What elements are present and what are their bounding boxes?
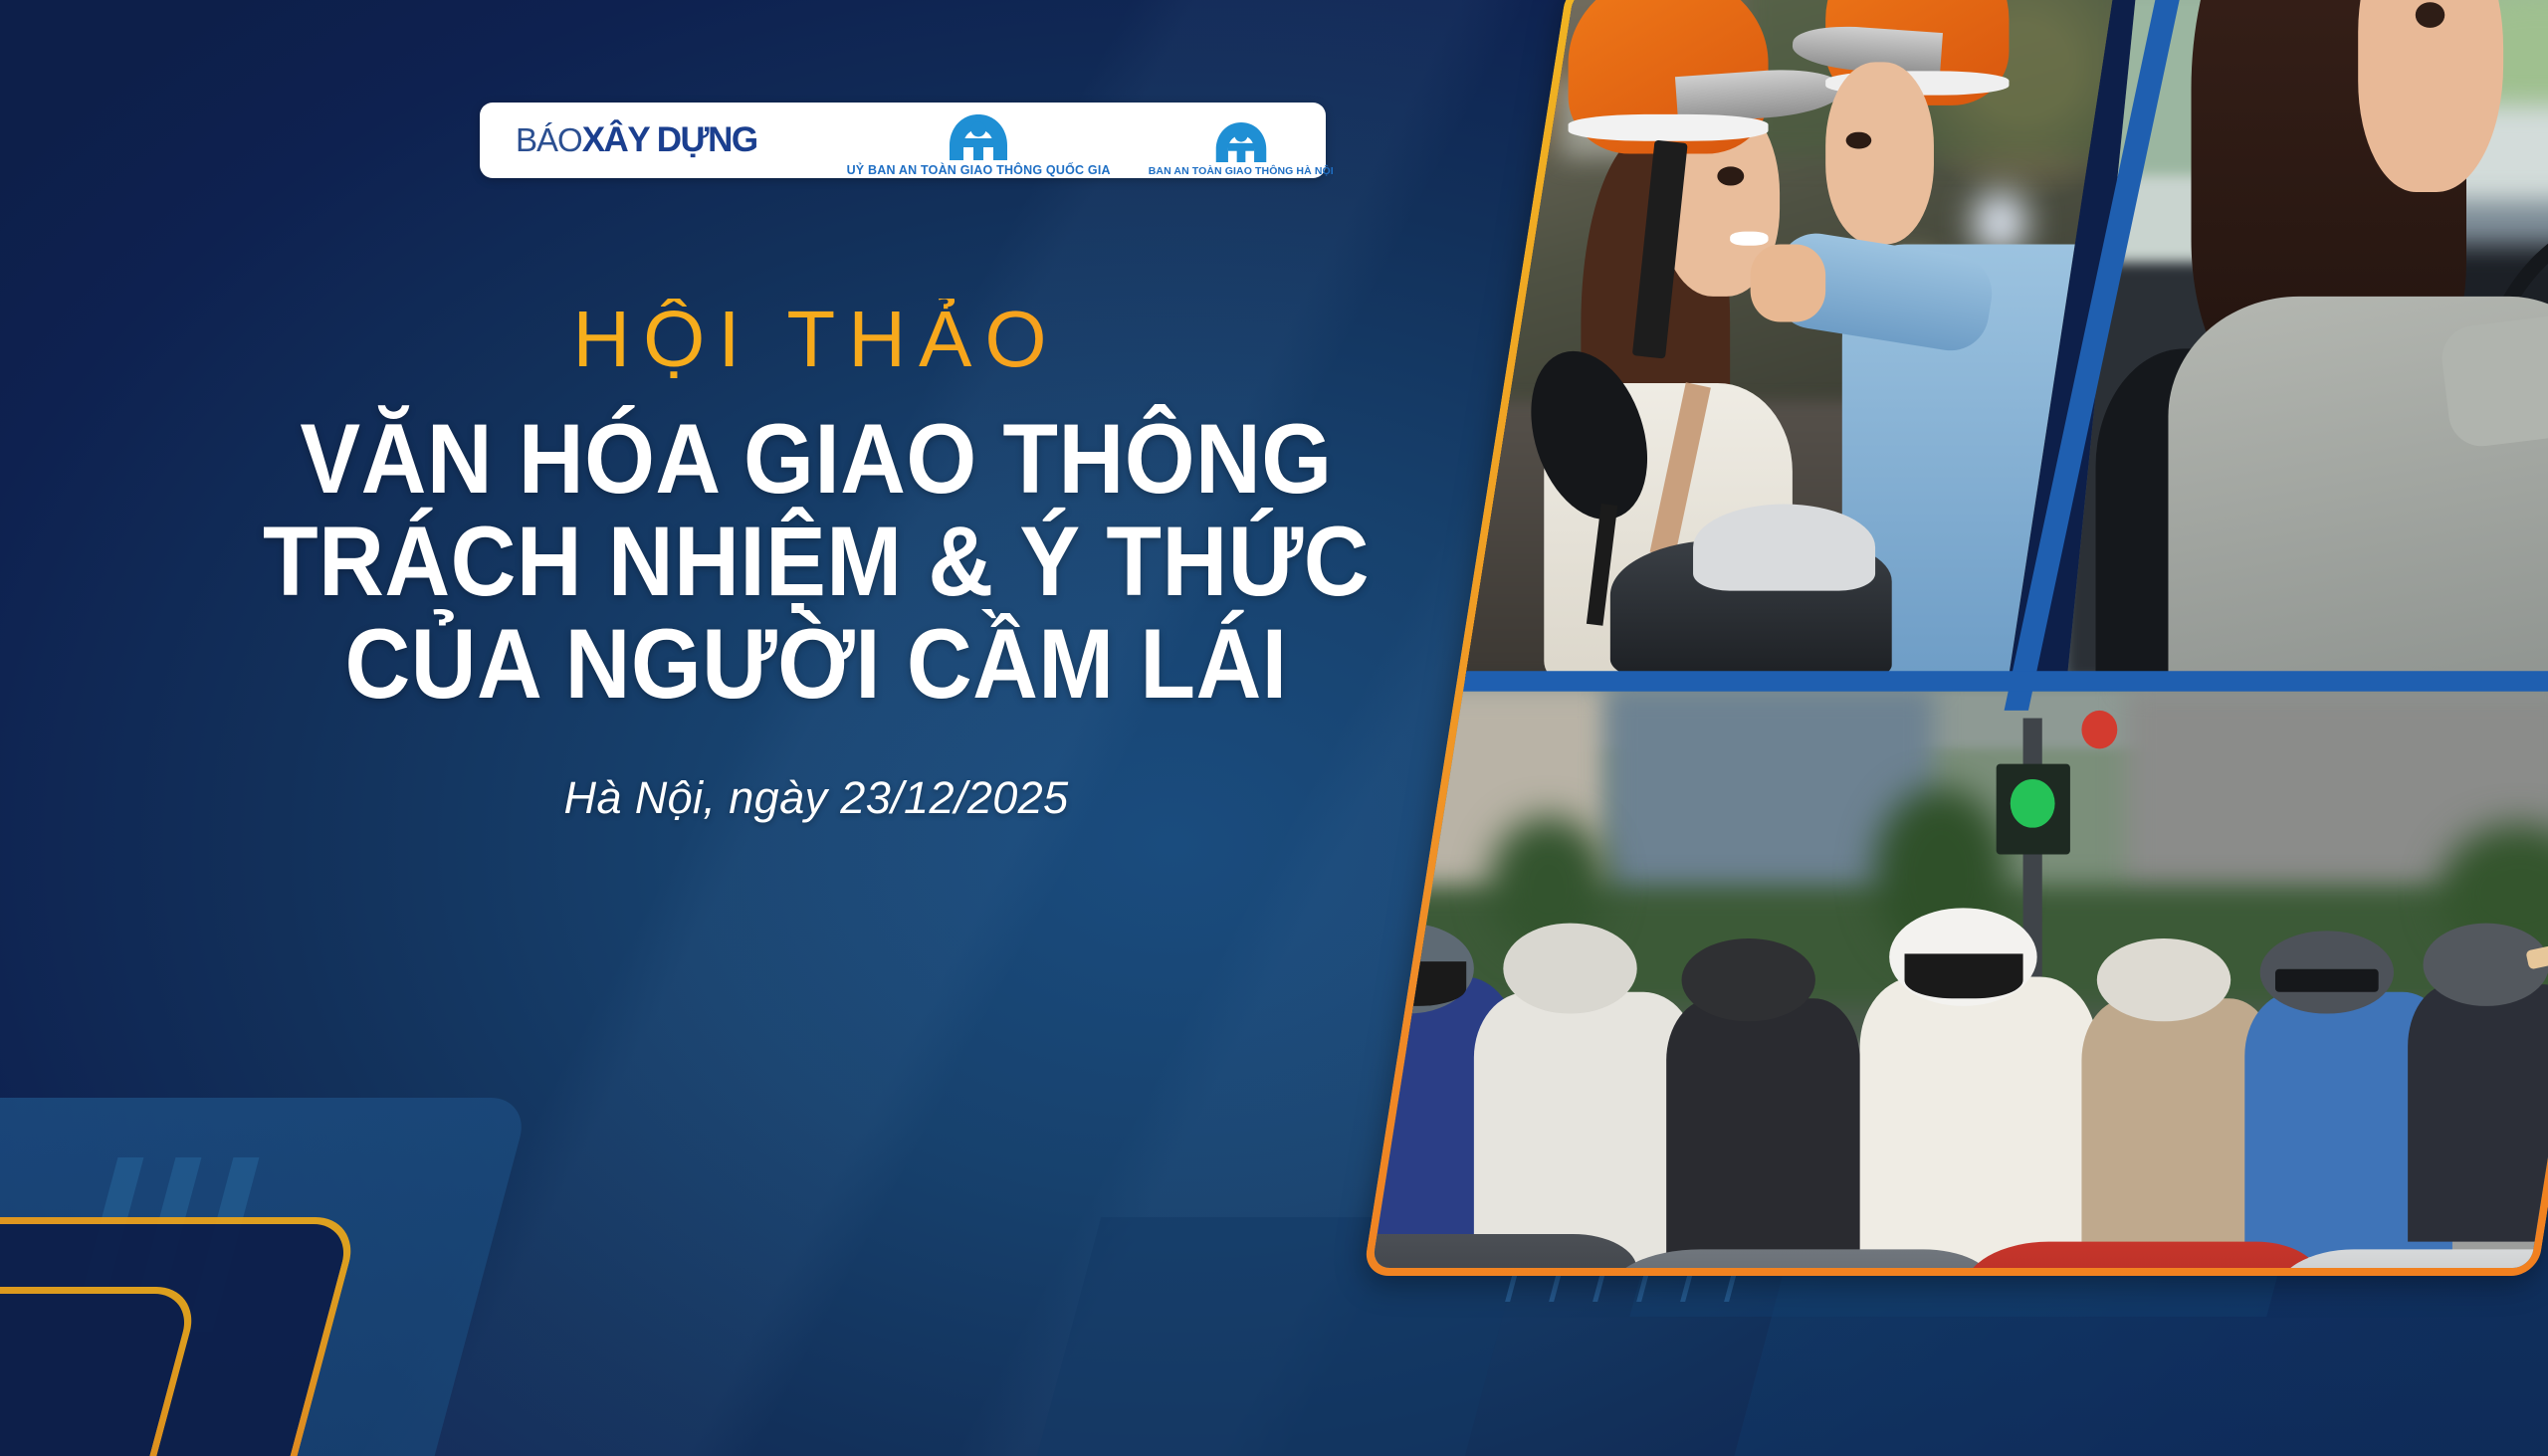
- traffic-safety-emblem-icon: [948, 112, 1009, 162]
- logo-national-traffic-safety-committee: UỶ BAN AN TOÀN GIAO THÔNG QUỐC GIA: [847, 104, 1111, 177]
- page-title: VĂN HÓA GIAO THÔNG TRÁCH NHIỆM & Ý THỨC …: [60, 408, 1573, 716]
- gold-outline-frame-secondary: [0, 1287, 202, 1456]
- organizer-logo-bar: BÁO XÂY DỰNG UỶ BAN AN TOÀN GIAO THÔNG Q…: [480, 103, 1326, 178]
- decorative-stripes-bottom-left: [95, 1157, 314, 1332]
- gold-outline-frame: [0, 1217, 361, 1456]
- seminar-poster: BÁO XÂY DỰNG UỶ BAN AN TOÀN GIAO THÔNG Q…: [0, 0, 2548, 1456]
- event-date-location: Hà Nội, ngày 23/12/2025: [60, 772, 1573, 824]
- traffic-safety-emblem-icon: [1214, 120, 1268, 164]
- logo-hanoi-traffic-safety-board: BAN AN TOÀN GIAO THÔNG HÀ NỘI: [1149, 104, 1334, 177]
- logo-caption-national: UỶ BAN AN TOÀN GIAO THÔNG QUỐC GIA: [847, 163, 1111, 177]
- headline-block: HỘI THẢO VĂN HÓA GIAO THÔNG TRÁCH NHIỆM …: [60, 299, 1573, 824]
- title-line-1: VĂN HÓA GIAO THÔNG: [120, 408, 1512, 511]
- title-line-2: TRÁCH NHIỆM & Ý THỨC: [120, 511, 1512, 613]
- photo-motorbike-traffic: [1363, 688, 2548, 1276]
- background-slab-bottom-left: [0, 1098, 531, 1456]
- brand-word-bao: BÁO: [516, 121, 582, 159]
- event-kicker: HỘI THẢO: [60, 299, 1573, 384]
- photo-collage: [1363, 0, 2548, 1276]
- logo-caption-hanoi: BAN AN TOÀN GIAO THÔNG HÀ NỘI: [1149, 165, 1334, 177]
- bao-xay-dung-logo: BÁO XÂY DỰNG: [516, 120, 757, 160]
- brand-word-xay-dung: XÂY DỰNG: [582, 120, 757, 160]
- collage-horizontal-divider: [1363, 672, 2548, 692]
- title-line-3: CỦA NGƯỜI CẦM LÁI: [120, 613, 1512, 716]
